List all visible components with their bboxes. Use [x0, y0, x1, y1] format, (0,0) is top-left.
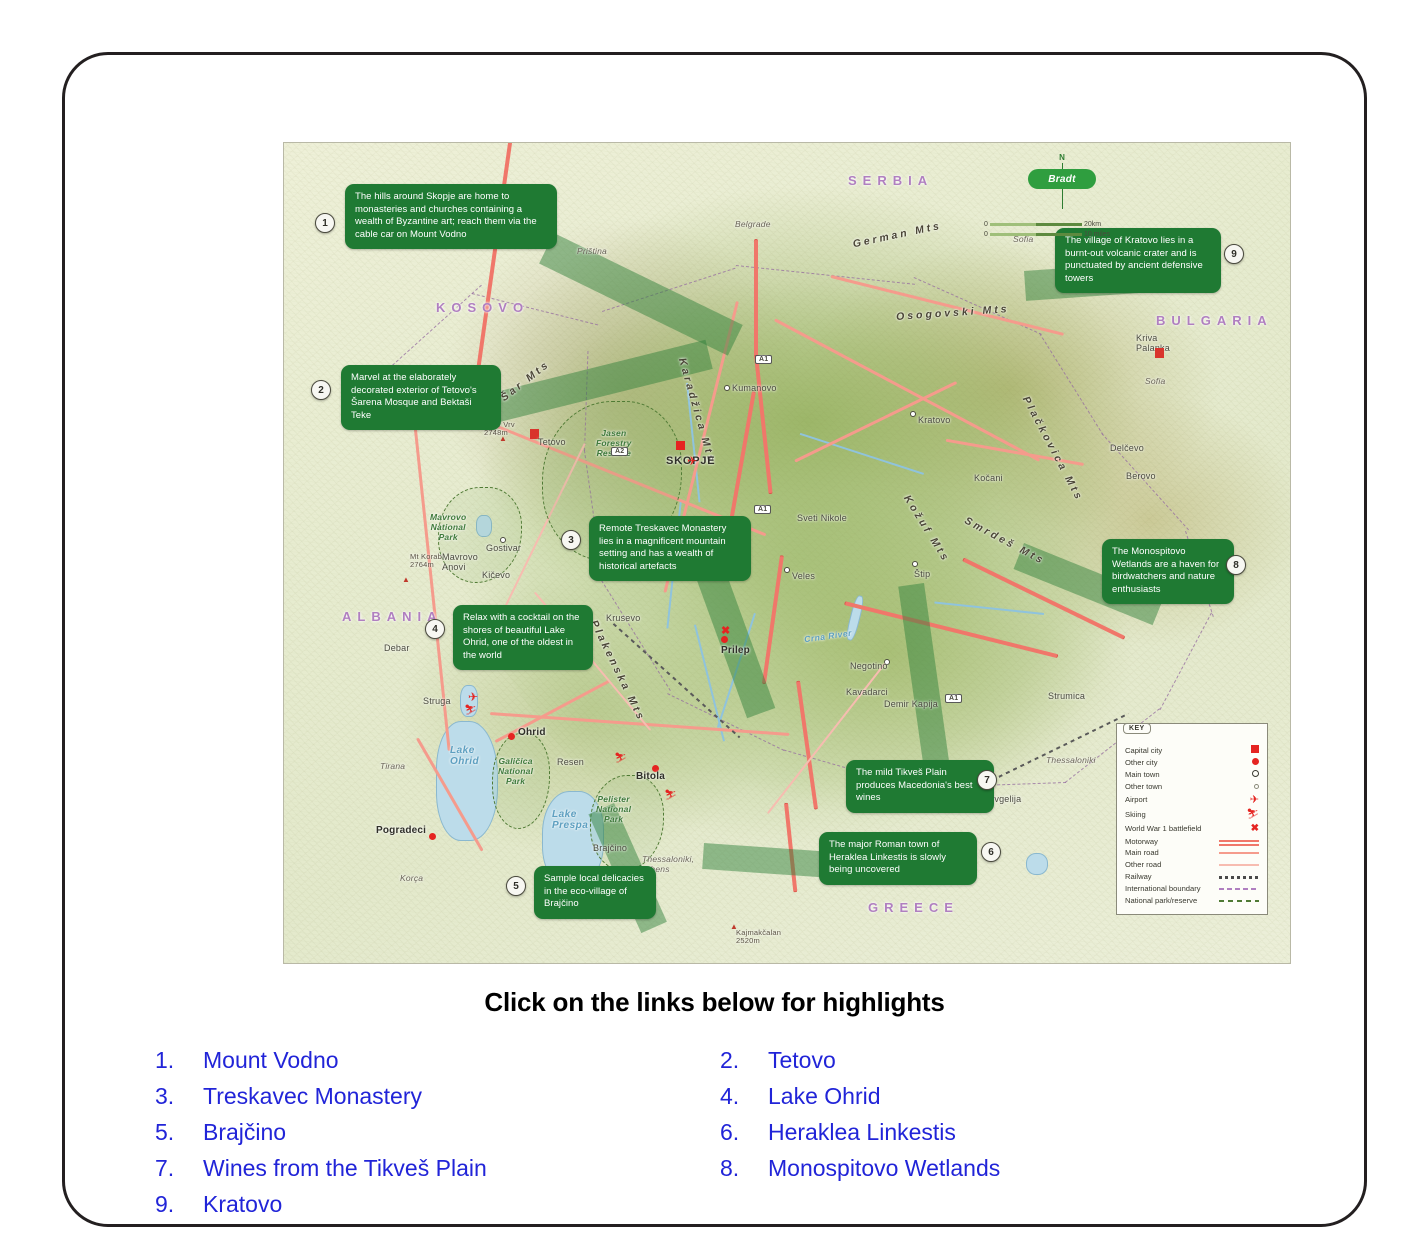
- key-row: Skiing ⛷: [1125, 808, 1259, 822]
- link-monospitovo-wetlands[interactable]: Monospitovo Wetlands: [768, 1155, 1000, 1182]
- link-row: 3. Treskavec Monastery 4. Lake Ohrid: [155, 1083, 1285, 1119]
- key-row: Capital city: [1125, 744, 1259, 757]
- highlight-links-list: 1. Mount Vodno 2. Tetovo 3. Treskavec Mo…: [155, 1047, 1285, 1227]
- link-mount-vodno[interactable]: Mount Vodno: [203, 1047, 339, 1074]
- key-row: Railway: [1125, 871, 1259, 883]
- link-heraklea-linkestis[interactable]: Heraklea Linkestis: [768, 1119, 956, 1146]
- key-row: National park/reserve: [1125, 894, 1259, 906]
- city-symbol-bitola: [652, 765, 659, 772]
- callout-6-text: The major Roman town of Heraklea Linkest…: [829, 839, 946, 875]
- town-symbol-gostivar: [500, 537, 506, 543]
- skiing-icon: ⛷: [1215, 808, 1259, 822]
- railway-line-icon: [1215, 871, 1259, 883]
- link-row: 9. Kratovo: [155, 1191, 1285, 1227]
- callout-7[interactable]: The mild Tikveš Plain produces Macedonia…: [846, 760, 994, 813]
- key-row: Other road: [1125, 859, 1259, 871]
- scale-miles-label: 10 miles: [1084, 231, 1110, 238]
- key-label: Other road: [1125, 859, 1215, 871]
- callout-4-text: Relax with a cocktail on the shores of b…: [463, 612, 580, 661]
- callout-marker-4-num: 4: [432, 624, 438, 635]
- town-symbol-kratovo: [910, 411, 916, 417]
- key-label: Skiing: [1125, 808, 1215, 822]
- callout-2-text: Marvel at the elaborately decorated exte…: [351, 372, 477, 421]
- bradt-logo: Bradt: [1028, 169, 1096, 189]
- scale-row-km: 0 20km: [984, 221, 1144, 228]
- town-symbol-stip: [912, 561, 918, 567]
- skiing-icon: ⛷: [614, 754, 627, 764]
- scale-bar-miles-graphic: [990, 233, 1082, 236]
- callout-4[interactable]: Relax with a cocktail on the shores of b…: [453, 605, 593, 670]
- link-tetovo[interactable]: Tetovo: [768, 1047, 836, 1074]
- key-row: Other town: [1125, 780, 1259, 792]
- road-motorway: [754, 239, 758, 359]
- page-title: Click on the links below for highlights: [65, 987, 1364, 1018]
- key-label: Railway: [1125, 871, 1215, 883]
- bradt-logo-text: Bradt: [1048, 174, 1076, 185]
- callout-7-text: The mild Tikveš Plain produces Macedonia…: [856, 767, 973, 803]
- key-label: International boundary: [1125, 882, 1215, 894]
- link-item-1[interactable]: 1. Mount Vodno: [155, 1047, 720, 1074]
- link-item-empty: [720, 1191, 1285, 1218]
- map-key-title: KEY: [1123, 723, 1151, 734]
- town-symbol-negotino: [884, 659, 890, 665]
- airport-icon: ✈: [1215, 792, 1259, 808]
- key-label: Capital city: [1125, 744, 1215, 757]
- link-number: 1.: [155, 1047, 203, 1074]
- key-label: Motorway: [1125, 835, 1215, 847]
- other-town-circle-icon: [1215, 780, 1259, 792]
- callout-marker-3[interactable]: 3: [561, 530, 581, 550]
- callout-marker-5[interactable]: 5: [506, 876, 526, 896]
- callout-marker-9-num: 9: [1231, 249, 1237, 260]
- skiing-icon: ⛷: [464, 706, 477, 716]
- page-root: SERBIA KOSOVO BULGARIA ALBANIA GREECE Ša…: [0, 0, 1416, 1258]
- key-row: Airport ✈: [1125, 792, 1259, 808]
- main-town-circle-icon: [1215, 768, 1259, 780]
- map-key: KEY Capital city Other city Main town: [1116, 723, 1268, 915]
- airport-icon: ✈: [687, 455, 697, 467]
- capital-city-symbol: [676, 441, 685, 450]
- link-row: 5. Brajčino 6. Heraklea Linkestis: [155, 1119, 1285, 1155]
- callout-1-text: The hills around Skopje are home to mona…: [355, 191, 537, 240]
- callout-marker-8-num: 8: [1233, 560, 1239, 571]
- compass-north-label: N: [1026, 153, 1098, 162]
- callout-marker-2[interactable]: 2: [311, 380, 331, 400]
- key-row: Main road: [1125, 847, 1259, 859]
- map-key-table: Capital city Other city Main town Other …: [1125, 744, 1259, 906]
- link-number: 2.: [720, 1047, 768, 1074]
- town-symbol-veles: [784, 567, 790, 573]
- link-brajcino[interactable]: Brajčino: [203, 1119, 286, 1146]
- site-symbol: [1155, 348, 1164, 358]
- callout-1[interactable]: The hills around Skopje are home to mona…: [345, 184, 557, 249]
- lake-dojran: [1026, 853, 1048, 875]
- callout-marker-1[interactable]: 1: [315, 213, 335, 233]
- link-wines-tikves-plain[interactable]: Wines from the Tikveš Plain: [203, 1155, 487, 1182]
- callout-marker-7[interactable]: 7: [977, 770, 997, 790]
- callout-5[interactable]: Sample local delicacies in the eco-villa…: [534, 866, 656, 919]
- link-number: 8.: [720, 1155, 768, 1182]
- link-item-8[interactable]: 8. Monospitovo Wetlands: [720, 1155, 1285, 1182]
- international-boundary-line-icon: [1215, 882, 1259, 894]
- macedonia-map[interactable]: SERBIA KOSOVO BULGARIA ALBANIA GREECE Ša…: [283, 142, 1291, 964]
- peak-icon: ▲: [730, 923, 738, 931]
- link-number: 7.: [155, 1155, 203, 1182]
- link-item-4[interactable]: 4. Lake Ohrid: [720, 1083, 1285, 1110]
- motorway-line-icon: [1215, 835, 1259, 847]
- callout-marker-8[interactable]: 8: [1226, 555, 1246, 575]
- key-label: Airport: [1125, 792, 1215, 808]
- key-row: Other city: [1125, 757, 1259, 769]
- callout-marker-7-num: 7: [984, 775, 990, 786]
- city-symbol-prilep: [721, 636, 728, 643]
- callout-8[interactable]: The Monospitovo Wetlands are a haven for…: [1102, 539, 1234, 604]
- callout-marker-3-num: 3: [568, 535, 574, 546]
- link-item-2[interactable]: 2. Tetovo: [720, 1047, 1285, 1074]
- key-label: Other town: [1125, 780, 1215, 792]
- callout-marker-6-num: 6: [988, 847, 994, 858]
- callout-marker-2-num: 2: [318, 385, 324, 396]
- link-number: 3.: [155, 1083, 203, 1110]
- key-label: Main road: [1125, 847, 1215, 859]
- link-item-7[interactable]: 7. Wines from the Tikveš Plain: [155, 1155, 720, 1182]
- link-kratovo[interactable]: Kratovo: [203, 1191, 282, 1218]
- link-item-9[interactable]: 9. Kratovo: [155, 1191, 720, 1218]
- link-number: 5.: [155, 1119, 203, 1146]
- skiing-icon: ⛷: [664, 791, 677, 801]
- key-row: Motorway: [1125, 835, 1259, 847]
- callout-3-text: Remote Treskavec Monastery lies in a mag…: [599, 523, 727, 572]
- national-park-line-icon: [1215, 894, 1259, 906]
- key-label: Other city: [1125, 757, 1215, 769]
- key-row: International boundary: [1125, 882, 1259, 894]
- key-label: World War 1 battlefield: [1125, 822, 1215, 836]
- link-item-5[interactable]: 5. Brajčino: [155, 1119, 720, 1146]
- callout-5-text: Sample local delicacies in the eco-villa…: [544, 873, 644, 909]
- link-treskavec-monastery[interactable]: Treskavec Monastery: [203, 1083, 422, 1110]
- content-card: SERBIA KOSOVO BULGARIA ALBANIA GREECE Ša…: [62, 52, 1367, 1227]
- key-row: Main town: [1125, 768, 1259, 780]
- scale-bar-km-graphic: [990, 223, 1082, 226]
- callout-3[interactable]: Remote Treskavec Monastery lies in a mag…: [589, 516, 751, 581]
- battlefield-icon: ✖: [721, 626, 730, 637]
- callout-2[interactable]: Marvel at the elaborately decorated exte…: [341, 365, 501, 430]
- main-road-line-icon: [1215, 847, 1259, 859]
- city-symbol-ohrid: [508, 733, 515, 740]
- town-symbol-tetovo: [530, 429, 539, 439]
- callout-marker-9[interactable]: 9: [1224, 244, 1244, 264]
- link-item-3[interactable]: 3. Treskavec Monastery: [155, 1083, 720, 1110]
- link-number: 4.: [720, 1083, 768, 1110]
- capital-square-icon: [1215, 744, 1259, 757]
- link-number: 6.: [720, 1119, 768, 1146]
- other-road-line-icon: [1215, 859, 1259, 871]
- peak-icon: ▲: [402, 576, 410, 584]
- callout-9-text: The village of Kratovo lies in a burnt-o…: [1065, 235, 1203, 284]
- callout-6[interactable]: The major Roman town of Heraklea Linkest…: [819, 832, 977, 885]
- peak-icon: ▲: [499, 435, 507, 443]
- battlefield-icon: ✖: [1215, 822, 1259, 836]
- city-symbol-pogradeci: [429, 833, 436, 840]
- link-row: 1. Mount Vodno 2. Tetovo: [155, 1047, 1285, 1083]
- callout-marker-4[interactable]: 4: [425, 619, 445, 639]
- link-row: 7. Wines from the Tikveš Plain 8. Monosp…: [155, 1155, 1285, 1191]
- callout-marker-5-num: 5: [513, 881, 519, 892]
- callout-marker-6[interactable]: 6: [981, 842, 1001, 862]
- link-item-6[interactable]: 6. Heraklea Linkestis: [720, 1119, 1285, 1146]
- city-dot-icon: [1215, 757, 1259, 769]
- town-symbol-kumanovo: [724, 385, 730, 391]
- link-lake-ohrid[interactable]: Lake Ohrid: [768, 1083, 881, 1110]
- key-label: National park/reserve: [1125, 894, 1215, 906]
- link-number: 9.: [155, 1191, 203, 1218]
- airport-icon: ✈: [468, 691, 478, 703]
- scale-row-miles: 0 10 miles: [984, 231, 1144, 238]
- callout-marker-1-num: 1: [322, 218, 328, 229]
- key-row: World War 1 battlefield ✖: [1125, 822, 1259, 836]
- callout-8-text: The Monospitovo Wetlands are a haven for…: [1112, 546, 1219, 595]
- scale-km-label: 20km: [1084, 221, 1101, 228]
- scale-bar: 0 20km 0 10 miles: [984, 221, 1144, 241]
- key-label: Main town: [1125, 768, 1215, 780]
